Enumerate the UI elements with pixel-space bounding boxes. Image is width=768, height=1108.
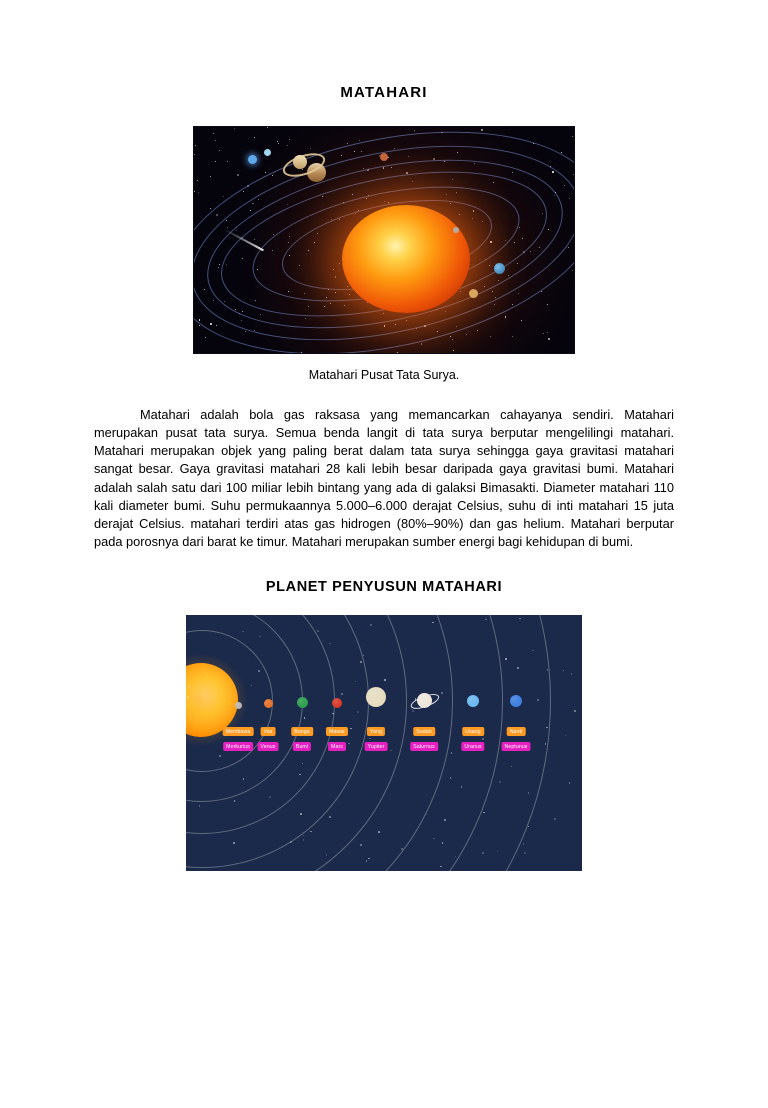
mnemonic-label-yupiter: Yang [367, 727, 385, 736]
mnemonic-label-mars: Mawar [326, 727, 348, 736]
mnemonic-label-neptunus: Nanti [507, 727, 526, 736]
figure-1-container [0, 126, 768, 354]
document-page: MATAHARI Matahari Pusat Tata Surya. [0, 84, 768, 1108]
planet-graphic-saturn [293, 155, 307, 169]
planet-graphic-venus [264, 699, 273, 708]
planet-label-saturnus: Saturnus [410, 742, 438, 751]
planet-label-mars: Mars [328, 742, 346, 751]
planet-label-merkurius: Merkurius [223, 742, 253, 751]
mnemonic-label-bumi: Bunga [291, 727, 313, 736]
planet-graphic-bumi [297, 697, 308, 708]
solar-system-illustration [193, 126, 575, 354]
sun-graphic [342, 205, 470, 313]
figure-1-caption: Matahari Pusat Tata Surya. [0, 368, 768, 382]
planet-label-bumi: Bumi [293, 742, 311, 751]
planet-label-yupiter: Yupiter [365, 742, 388, 751]
planet-label-uranus: Uranus [461, 742, 484, 751]
planet-graphic-mercury [453, 227, 459, 233]
article-body: Matahari adalah bola gas raksasa yang me… [94, 406, 674, 551]
page-title: MATAHARI [0, 84, 768, 101]
planet-graphic-earth [494, 263, 505, 274]
mnemonic-label-merkurius: Membawa [223, 727, 254, 736]
figure-2-container: MembawaMerkuriusVasVenusBungaBumiMawarMa… [0, 615, 768, 871]
article-paragraph: Matahari adalah bola gas raksasa yang me… [94, 406, 674, 551]
planet-graphic-merkurius [235, 702, 242, 709]
planet-order-diagram: MembawaMerkuriusVasVenusBungaBumiMawarMa… [186, 615, 582, 871]
section-title: PLANET PENYUSUN MATAHARI [0, 579, 768, 595]
planet-label-neptunus: Neptunus [501, 742, 530, 751]
mnemonic-label-uranus: Usang [462, 727, 484, 736]
mnemonic-label-venus: Vas [261, 727, 276, 736]
planet-graphic-venus [469, 289, 478, 298]
planet-graphic-uranus [264, 149, 271, 156]
planet-label-venus: Venus [258, 742, 279, 751]
planet-graphic-neptune [248, 155, 257, 164]
mnemonic-label-saturnus: Sudah [413, 727, 435, 736]
planet-graphic-mars [380, 153, 388, 161]
